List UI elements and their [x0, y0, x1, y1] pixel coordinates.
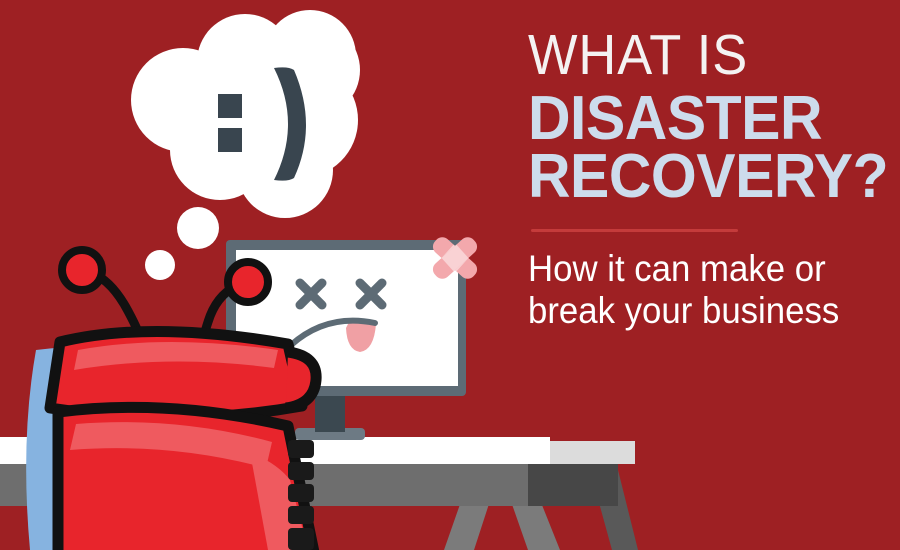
bubble-dot-small: [145, 250, 175, 280]
emoticon-colon-top: [218, 94, 242, 118]
kicker-text: WHAT IS: [528, 28, 859, 84]
subhead-line-1: How it can make or: [528, 248, 866, 289]
subhead-line-2: break your business: [528, 290, 866, 331]
monitor-stand: [315, 390, 345, 432]
arm-segment-2: [288, 462, 314, 480]
emoticon-colon-bottom: [218, 128, 242, 152]
robot-ear: [286, 352, 316, 408]
arm-segment-3: [288, 484, 314, 502]
headline-line-2: RECOVERY?: [528, 148, 870, 206]
antenna-left-tip: [62, 250, 102, 290]
text-block: WHAT IS DISASTER RECOVERY? How it can ma…: [528, 28, 888, 331]
arm-segment-4: [288, 506, 314, 524]
desk-apron-dark: [528, 464, 618, 506]
antenna-right-tip: [228, 262, 268, 302]
desk-top-endcap: [550, 441, 635, 464]
divider-rule: [531, 229, 738, 232]
poster-canvas: WHAT IS DISASTER RECOVERY? How it can ma…: [0, 0, 900, 550]
arm-segment-5: [288, 528, 314, 550]
robot-arm: [288, 440, 314, 550]
arm-segment-1: [288, 440, 314, 458]
subhead: How it can make or break your business: [528, 248, 866, 331]
headline: DISASTER RECOVERY?: [528, 90, 870, 205]
bubble-dot-large: [177, 207, 219, 249]
